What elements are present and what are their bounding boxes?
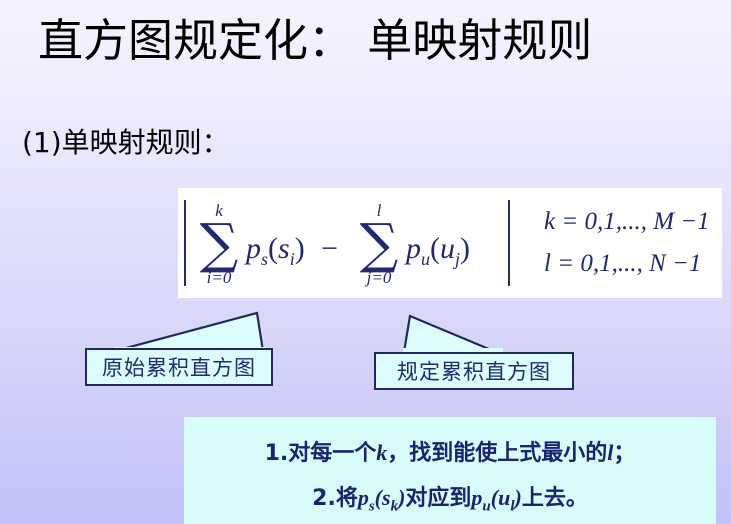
callout-label: 原始累积直方图 [102,352,256,382]
term-first-p: p [246,232,261,265]
step-line-1: 1.对每一个k，找到能使上式最小的l； [184,431,716,476]
absolute-value-bar-right [508,200,510,286]
minus-operator: − [321,234,338,264]
term-second: pu(uj) [406,234,470,274]
summation-first: k ∑ i=0 [190,202,248,287]
term-second-arg: u [440,232,455,265]
sum-lower-limit: j=0 [350,269,408,287]
sigma-icon: ∑ [190,219,248,269]
callout-label: 规定累积直方图 [397,356,551,386]
step1-suffix: ； [613,441,635,466]
term-first: ps(si) [246,234,305,274]
step2-suffix: 上去。 [522,486,588,511]
absolute-value-bar-left [184,200,186,286]
sigma-icon: ∑ [350,219,408,269]
formula-conditions: k = 0,1,..., M −1 l = 0,1,..., N −1 [544,201,710,285]
step2-arg1-sub: k [391,498,399,514]
formula-panel: k ∑ i=0 ps(si) − l ∑ j=0 pu(uj) k = 0,1,… [178,188,722,298]
summation-second: l ∑ j=0 [350,202,408,287]
step2-arg2: (u [491,485,511,510]
step1-middle: ，找到能使上式最小的 [387,441,607,466]
step1-prefix: 1.对每一个 [265,441,377,466]
term-first-arg: s [278,232,290,265]
term-first-paren-open: ( [268,232,278,265]
step2-p2-sub: u [482,498,490,514]
step2-p2: p [471,485,482,510]
callout-original-cumulative-histogram: 原始累积直方图 [85,348,273,386]
step2-p1: p [358,485,369,510]
step1-var-k: k [376,440,387,465]
step2-middle: 对应到 [405,486,471,511]
step2-prefix: 2.将 [312,486,358,511]
step-line-2: 2.将ps(sk)对应到pu(ul)上去。 [184,476,716,524]
term-second-p-sub: u [421,249,430,269]
step2-arg1: (s [375,485,391,510]
section-subtitle: (1)单映射规则： [22,124,230,162]
term-second-p: p [406,232,421,265]
callout-specified-cumulative-histogram: 规定累积直方图 [374,352,574,390]
sum-lower-limit: i=0 [190,269,248,287]
formula-expression: k ∑ i=0 ps(si) − l ∑ j=0 pu(uj) [178,188,516,298]
term-second-paren-open: ( [430,232,440,265]
slide-canvas: 直方图规定化： 单映射规则 (1)单映射规则： k ∑ i=0 ps(si) −… [0,0,731,524]
steps-box: 1.对每一个k，找到能使上式最小的l； 2.将ps(sk)对应到pu(ul)上去… [184,417,716,524]
step2-arg2-close: ) [514,485,521,510]
condition-k: k = 0,1,..., M −1 [544,201,710,243]
term-first-paren-close: ) [295,232,305,265]
condition-l: l = 0,1,..., N −1 [544,243,710,285]
callout-tail-specified [374,308,584,358]
term-first-p-sub: s [261,249,268,269]
term-second-paren-close: ) [460,232,470,265]
page-title: 直方图规定化： 单映射规则 [38,10,698,72]
